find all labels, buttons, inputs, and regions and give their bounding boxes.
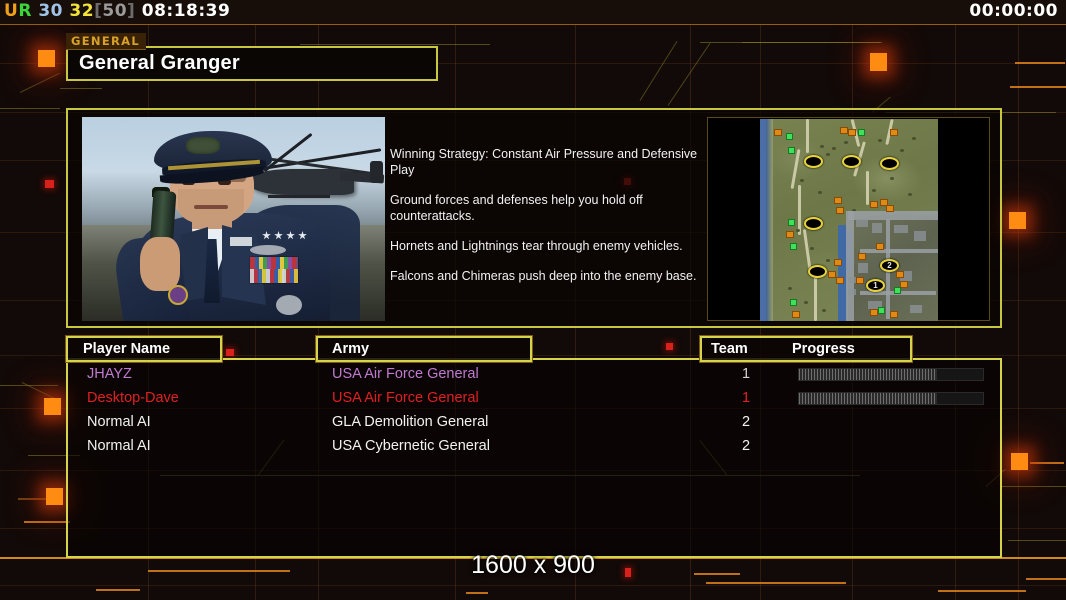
medal-icon	[168, 285, 188, 305]
player-name: JHAYZ	[87, 366, 132, 382]
strategy-line-1: Winning Strategy: Constant Air Pressure …	[390, 146, 710, 178]
match-timer: 00:00:00	[969, 1, 1058, 21]
minimap-image: 2 1	[760, 119, 938, 321]
column-label-progress: Progress	[792, 341, 855, 357]
player-name: Normal AI	[87, 414, 151, 430]
general-info-panel: Winning Strategy: Constant Air Pressure …	[66, 108, 1002, 328]
stat-num-1: 30	[38, 1, 63, 21]
start-position-marker	[804, 155, 823, 168]
table-row[interactable]: Desktop-Dave USA Air Force General 1	[68, 388, 1004, 412]
table-row[interactable]: Normal AI GLA Demolition General 2	[68, 412, 1004, 436]
rank-stars-icon	[262, 231, 324, 240]
start-position-marker	[842, 155, 861, 168]
strategy-line-4: Falcons and Chimeras push deep into the …	[390, 268, 710, 284]
table-row[interactable]: Normal AI USA Cybernetic General 2	[68, 436, 1004, 460]
helicopter-icon	[250, 169, 354, 195]
table-row[interactable]: JHAYZ USA Air Force General 1	[68, 364, 1004, 388]
loading-screen: UR 30 32[50] 08:18:39 00:00:00 GENERAL G…	[0, 0, 1066, 600]
start-position-marker-2: 2	[880, 259, 899, 272]
stat-num-2: 32	[69, 1, 94, 21]
column-label-team: Team	[711, 341, 748, 357]
column-header-player-name: Player Name	[66, 336, 222, 362]
player-army: USA Cybernetic General	[332, 438, 490, 454]
start-position-marker	[880, 157, 899, 170]
stat-u: U	[4, 1, 18, 21]
general-name-box: General Granger	[66, 46, 438, 81]
strategy-line-2: Ground forces and defenses help you hold…	[390, 192, 710, 224]
player-team: 1	[734, 390, 758, 406]
player-team: 2	[734, 414, 758, 430]
start-position-marker	[804, 217, 823, 230]
column-label-player-name: Player Name	[83, 341, 170, 357]
column-header-army: Army	[316, 336, 532, 362]
top-status-bar: UR 30 32[50] 08:18:39 00:00:00	[0, 0, 1066, 25]
strategy-text-block: Winning Strategy: Constant Air Pressure …	[390, 146, 710, 298]
start-position-marker	[808, 265, 827, 278]
start-position-marker-1: 1	[866, 279, 885, 292]
pilot-wings-icon	[250, 245, 286, 255]
general-tag-label: GENERAL	[66, 33, 146, 50]
stat-bracket-close: ]	[127, 1, 135, 21]
map-preview: 2 1	[707, 117, 990, 321]
player-team: 1	[734, 366, 758, 382]
player-name: Desktop-Dave	[87, 390, 179, 406]
resolution-label: 1600 x 900	[0, 551, 1066, 580]
stat-bracket-num: 50	[102, 1, 127, 21]
column-header-team-progress: Team Progress	[700, 336, 912, 362]
topbar-divider	[0, 24, 1066, 25]
player-progress-bar	[798, 368, 984, 381]
column-label-army: Army	[332, 341, 369, 357]
session-stats: UR 30 32[50] 08:18:39	[4, 1, 230, 21]
player-army: GLA Demolition General	[332, 414, 488, 430]
player-army: USA Air Force General	[332, 390, 479, 406]
player-list-panel: JHAYZ USA Air Force General 1 Desktop-Da…	[66, 358, 1002, 558]
stat-time: 08:18:39	[142, 1, 231, 21]
player-name: Normal AI	[87, 438, 151, 454]
stat-r: R	[18, 1, 32, 21]
general-portrait	[82, 117, 385, 321]
player-team: 2	[734, 438, 758, 454]
player-army: USA Air Force General	[332, 366, 479, 382]
general-name: General Granger	[79, 52, 240, 75]
strategy-line-3: Hornets and Lightnings tear through enem…	[390, 238, 710, 254]
player-progress-bar	[798, 392, 984, 405]
